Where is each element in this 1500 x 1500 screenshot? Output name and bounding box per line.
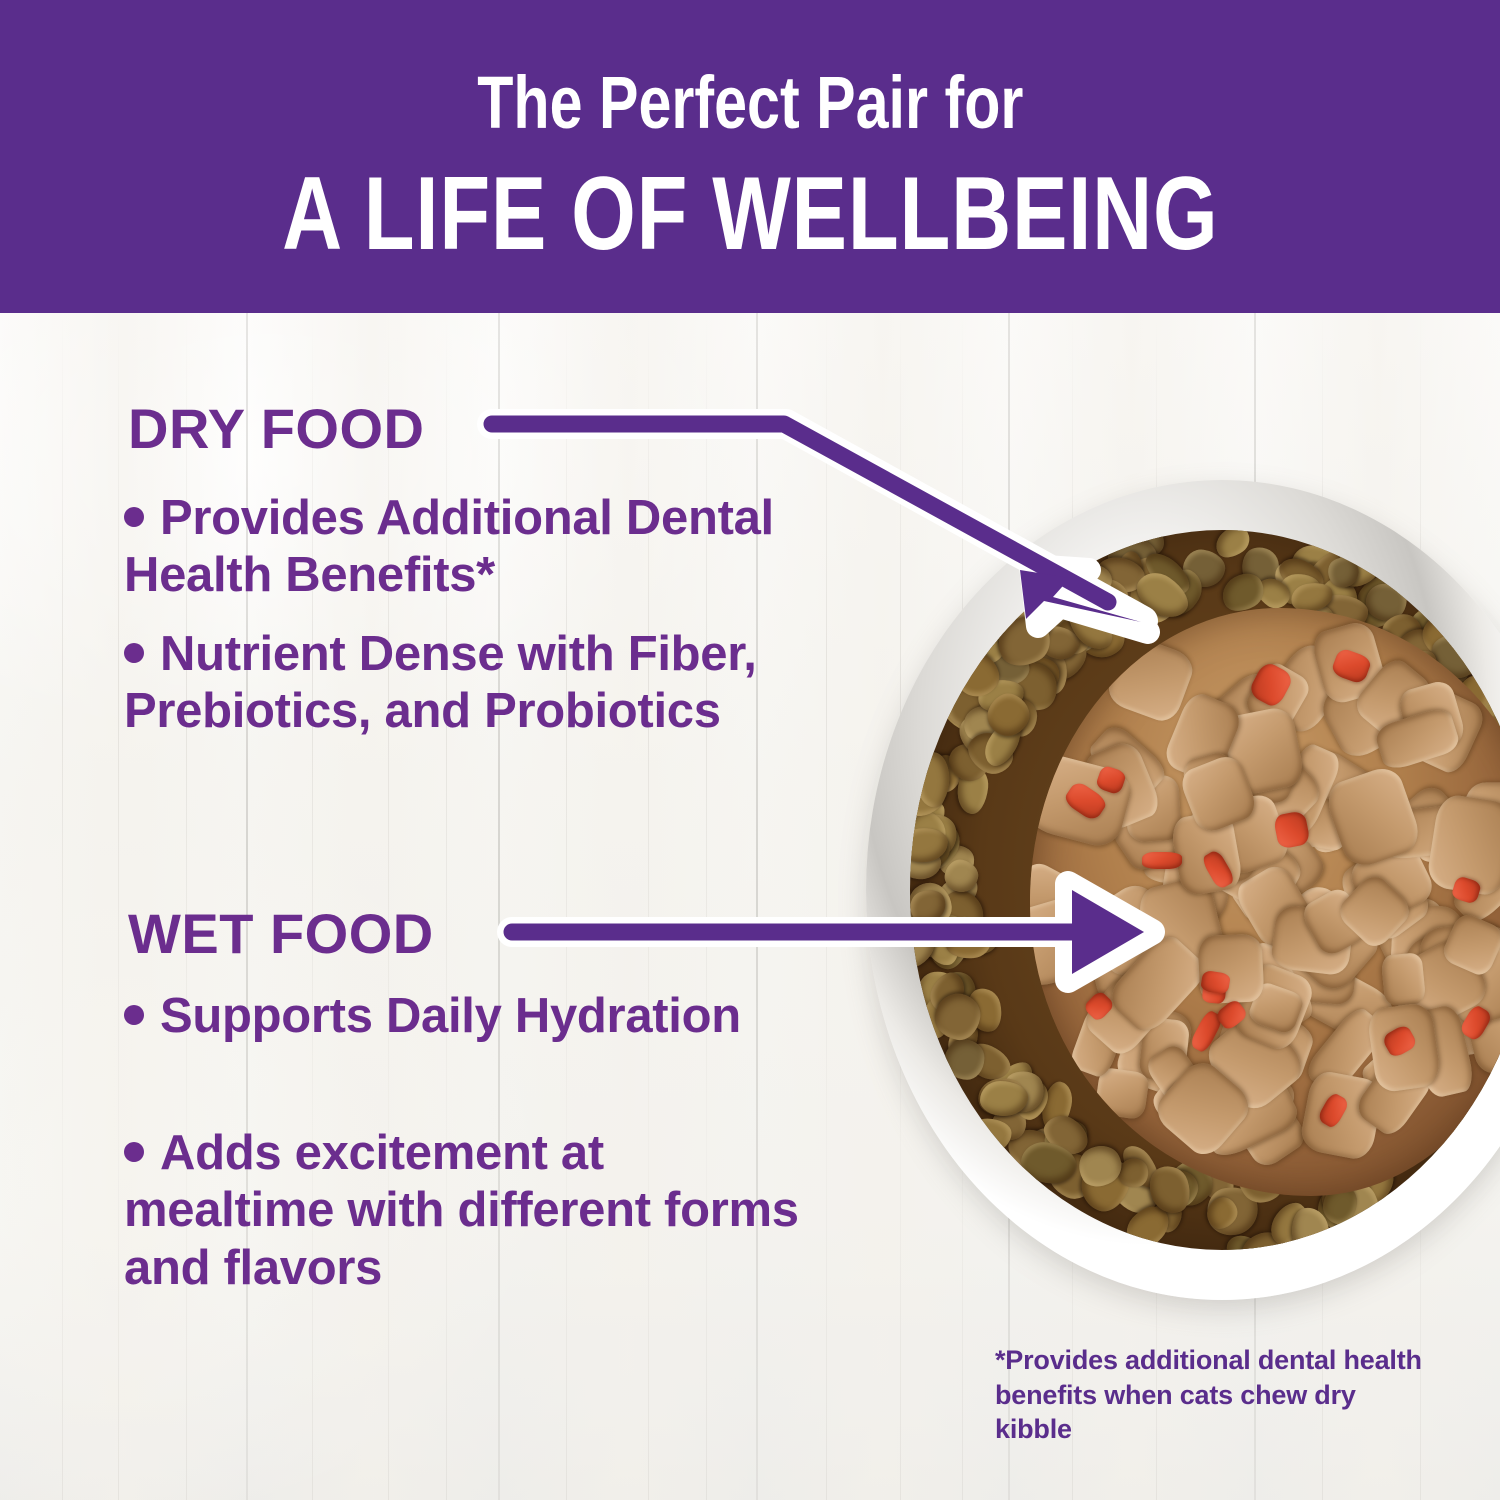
creative-banner: The Perfect Pair for A LIFE OF WELLBEING…	[0, 0, 1500, 1500]
steel-bowl	[866, 480, 1500, 1300]
dry-food-heading: DRY FOOD	[128, 396, 424, 461]
bullet-dot-icon	[124, 1142, 144, 1162]
vegetable-bit	[1142, 852, 1182, 870]
header-subtitle: The Perfect Pair for	[477, 66, 1023, 140]
bullet-dot-icon	[124, 507, 144, 527]
bowl-interior	[910, 530, 1500, 1250]
header-banner: The Perfect Pair for A LIFE OF WELLBEING	[0, 0, 1500, 313]
bullet-dot-icon	[124, 1005, 144, 1025]
bullet-dot-icon	[124, 643, 144, 663]
dry-food-bullet-1-text: Provides Additional Dental Health Benefi…	[124, 491, 774, 602]
dry-food-bullet-2-text: Nutrient Dense with Fiber, Prebiotics, a…	[124, 627, 757, 738]
wet-food-heading: WET FOOD	[128, 901, 434, 966]
dry-food-bullet-1: Provides Additional Dental Health Benefi…	[124, 490, 824, 605]
wet-food-bullet-1: Supports Daily Hydration	[124, 988, 824, 1045]
wet-food-bullet-1-text: Supports Daily Hydration	[160, 989, 741, 1043]
kibble-piece	[967, 1118, 1012, 1152]
header-title: A LIFE OF WELLBEING	[282, 162, 1219, 266]
dry-food-bullet-2: Nutrient Dense with Fiber, Prebiotics, a…	[124, 626, 824, 741]
benefits-copy-column: DRY FOOD Provides Additional Dental Heal…	[0, 313, 870, 1500]
wet-food-bullet-2: Adds excitement at mealtime with differe…	[124, 1125, 824, 1297]
footnote-text: *Provides additional dental health benef…	[995, 1343, 1425, 1447]
cat-food-bowl-photo	[866, 480, 1500, 1310]
wet-food-gravy	[1030, 608, 1500, 1196]
wet-food-bullet-2-text: Adds excitement at mealtime with differe…	[124, 1126, 799, 1295]
wet-food-chunk	[1380, 952, 1426, 1007]
